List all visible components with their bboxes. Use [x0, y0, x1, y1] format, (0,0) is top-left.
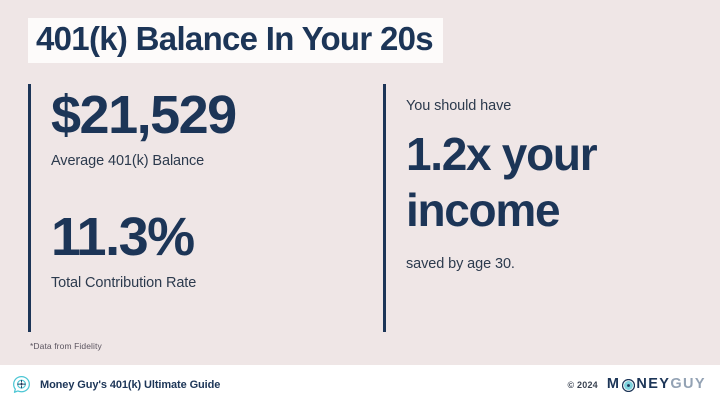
footer-guide-title: Money Guy's 401(k) Ultimate Guide	[40, 379, 220, 391]
stats-columns: $21,529 Average 401(k) Balance 11.3% Tot…	[0, 84, 720, 332]
title-highlight-block: 401(k) Balance In Your 20s	[28, 18, 443, 63]
footer-right-group: © 2024 M NEY GUY	[568, 377, 706, 392]
copyright-text: © 2024	[568, 380, 598, 390]
teal-circle-icon	[622, 379, 635, 392]
wordmark-ney: NEY	[636, 377, 670, 392]
stat-value-contribution-rate: 11.3%	[51, 210, 196, 265]
footer-left-group[interactable]: Money Guy's 401(k) Ultimate Guide	[12, 375, 220, 394]
recommendation-headline: 1.2x your income	[406, 126, 706, 238]
stat-block-contribution-rate: 11.3% Total Contribution Rate	[51, 210, 196, 291]
wordmark-o-icon	[622, 379, 635, 392]
infographic-card: 401(k) Balance In Your 20s $21,529 Avera…	[0, 0, 720, 404]
stat-value-average-balance: $21,529	[51, 88, 236, 143]
wordmark-m: M	[607, 377, 620, 392]
money-guy-logo-icon	[12, 375, 31, 394]
stat-label-average-balance: Average 401(k) Balance	[51, 153, 236, 169]
stat-label-contribution-rate: Total Contribution Rate	[51, 275, 196, 291]
recommendation-content: You should have 1.2x your income saved b…	[406, 98, 706, 272]
recommendation-outro: saved by age 30.	[406, 256, 706, 272]
stat-block-average-balance: $21,529 Average 401(k) Balance	[51, 88, 236, 169]
left-stats-column: $21,529 Average 401(k) Balance 11.3% Tot…	[28, 84, 358, 332]
recommendation-headline-line-1: 1.2x your	[406, 126, 706, 182]
recommendation-intro: You should have	[406, 98, 706, 114]
footer-bar: Money Guy's 401(k) Ultimate Guide © 2024…	[0, 365, 720, 404]
wordmark-guy: GUY	[670, 377, 706, 392]
source-note: *Data from Fidelity	[30, 341, 102, 351]
moneyguy-wordmark[interactable]: M NEY GUY	[607, 377, 706, 392]
right-recommendation-column: You should have 1.2x your income saved b…	[383, 84, 703, 332]
recommendation-headline-line-2: income	[406, 182, 706, 238]
page-title: 401(k) Balance In Your 20s	[36, 22, 433, 57]
